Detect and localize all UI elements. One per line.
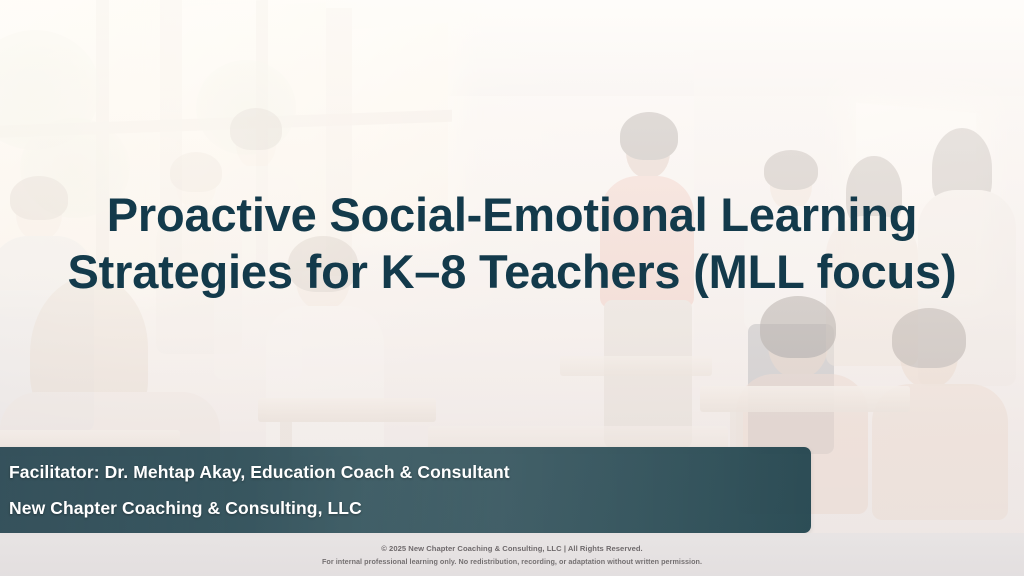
title-container: Proactive Social-Emotional Learning Stra…	[67, 186, 957, 300]
organization-line: New Chapter Coaching & Consulting, LLC	[9, 490, 811, 526]
footer-usage-notice: For internal professional learning only.…	[322, 556, 702, 567]
footer-strip: © 2025 New Chapter Coaching & Consulting…	[0, 533, 1024, 576]
presentation-slide: Proactive Social-Emotional Learning Stra…	[0, 0, 1024, 576]
slide-title: Proactive Social-Emotional Learning Stra…	[67, 186, 957, 300]
footer-copyright: © 2025 New Chapter Coaching & Consulting…	[381, 543, 642, 554]
facilitator-line: Facilitator: Dr. Mehtap Akay, Education …	[9, 454, 811, 490]
presenter-banner: Facilitator: Dr. Mehtap Akay, Education …	[0, 447, 811, 533]
